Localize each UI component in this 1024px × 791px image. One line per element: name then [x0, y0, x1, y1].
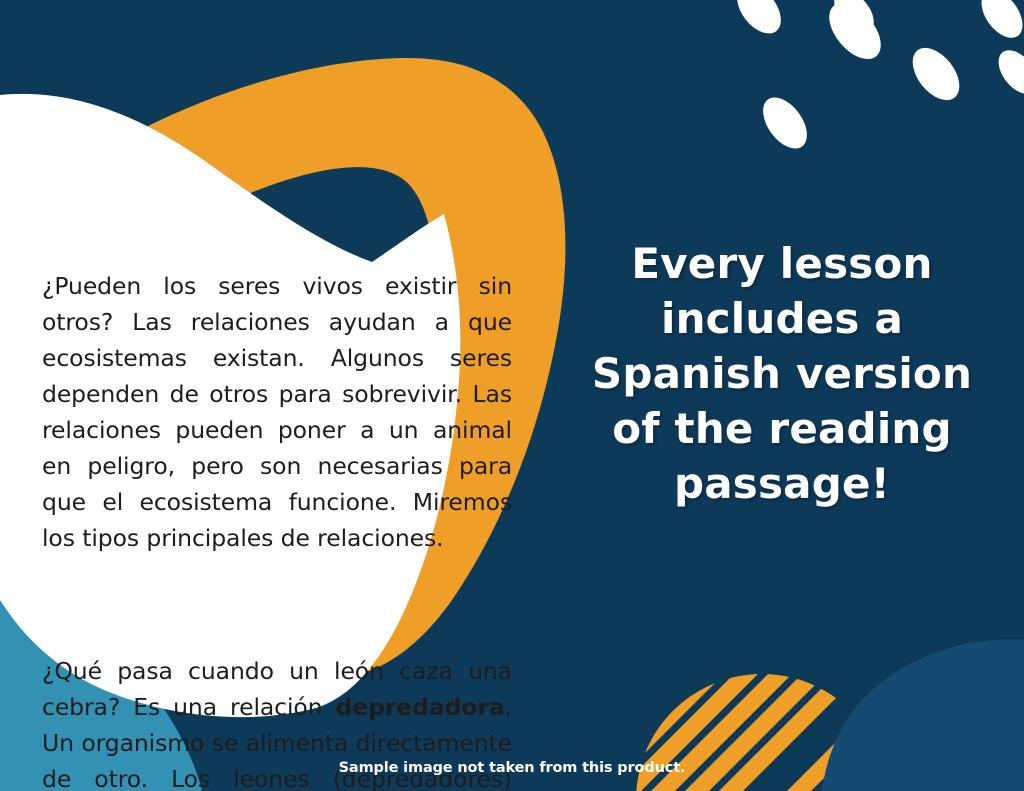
passage-paragraph-1: ¿Pueden los seres vivos existir sin otro… [42, 268, 512, 556]
headline-line-3: Spanish version [558, 346, 1006, 401]
spanish-passage: ¿Pueden los seres vivos existir sin otro… [42, 196, 512, 791]
disclaimer-caption: Sample image not taken from this product… [0, 760, 1024, 776]
headline-line-4: of the reading [558, 401, 1006, 456]
headline-line-5: passage! [558, 456, 1006, 511]
headline: Every lesson includes a Spanish version … [558, 236, 1006, 511]
passage-bold-term: depredadora [336, 693, 505, 721]
slide-canvas: ¿Pueden los seres vivos existir sin otro… [0, 0, 1024, 791]
headline-line-2: includes a [558, 291, 1006, 346]
headline-line-1: Every lesson [558, 236, 1006, 291]
